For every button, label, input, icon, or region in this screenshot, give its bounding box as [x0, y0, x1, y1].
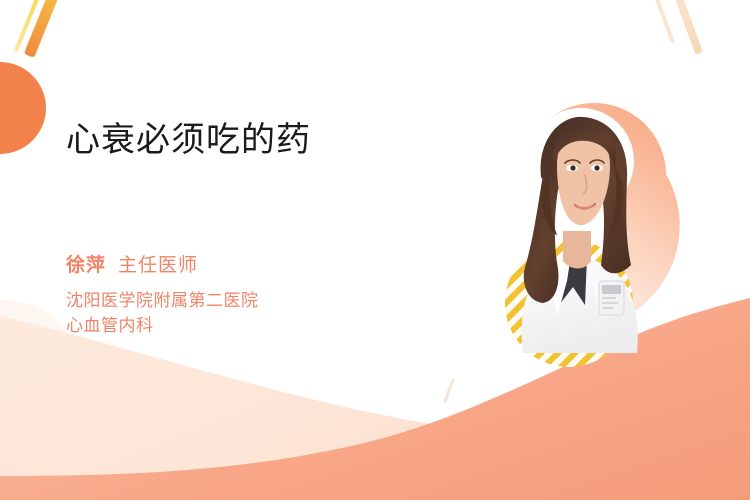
- orange-stripe-decor: [24, 0, 66, 58]
- doctor-rank: 主任医师: [118, 255, 198, 276]
- doctor-identity: 徐萍主任医师: [66, 250, 198, 277]
- doctor-hospital: 沈阳医学院附属第二医院: [66, 288, 259, 313]
- doctor-photo-illustration: [487, 105, 659, 353]
- doctor-video-cover-card: 心衰必须吃的药 徐萍主任医师 沈阳医学院附属第二医院 心血管内科: [0, 0, 750, 500]
- orange-circle-decor: [0, 62, 46, 154]
- doctor-portrait: [505, 105, 633, 367]
- faint-stripe-decor-right: [443, 378, 455, 403]
- peach-stripe-decor-a: [648, 0, 675, 44]
- page-title: 心衰必须吃的药: [66, 118, 311, 162]
- doctor-department: 心血管内科: [66, 313, 154, 338]
- peach-stripe-decor-b: [666, 0, 703, 55]
- yellow-stripe-decor: [14, 0, 44, 52]
- faint-stripe-decor-mid: [150, 358, 163, 387]
- doctor-name: 徐萍: [66, 255, 106, 276]
